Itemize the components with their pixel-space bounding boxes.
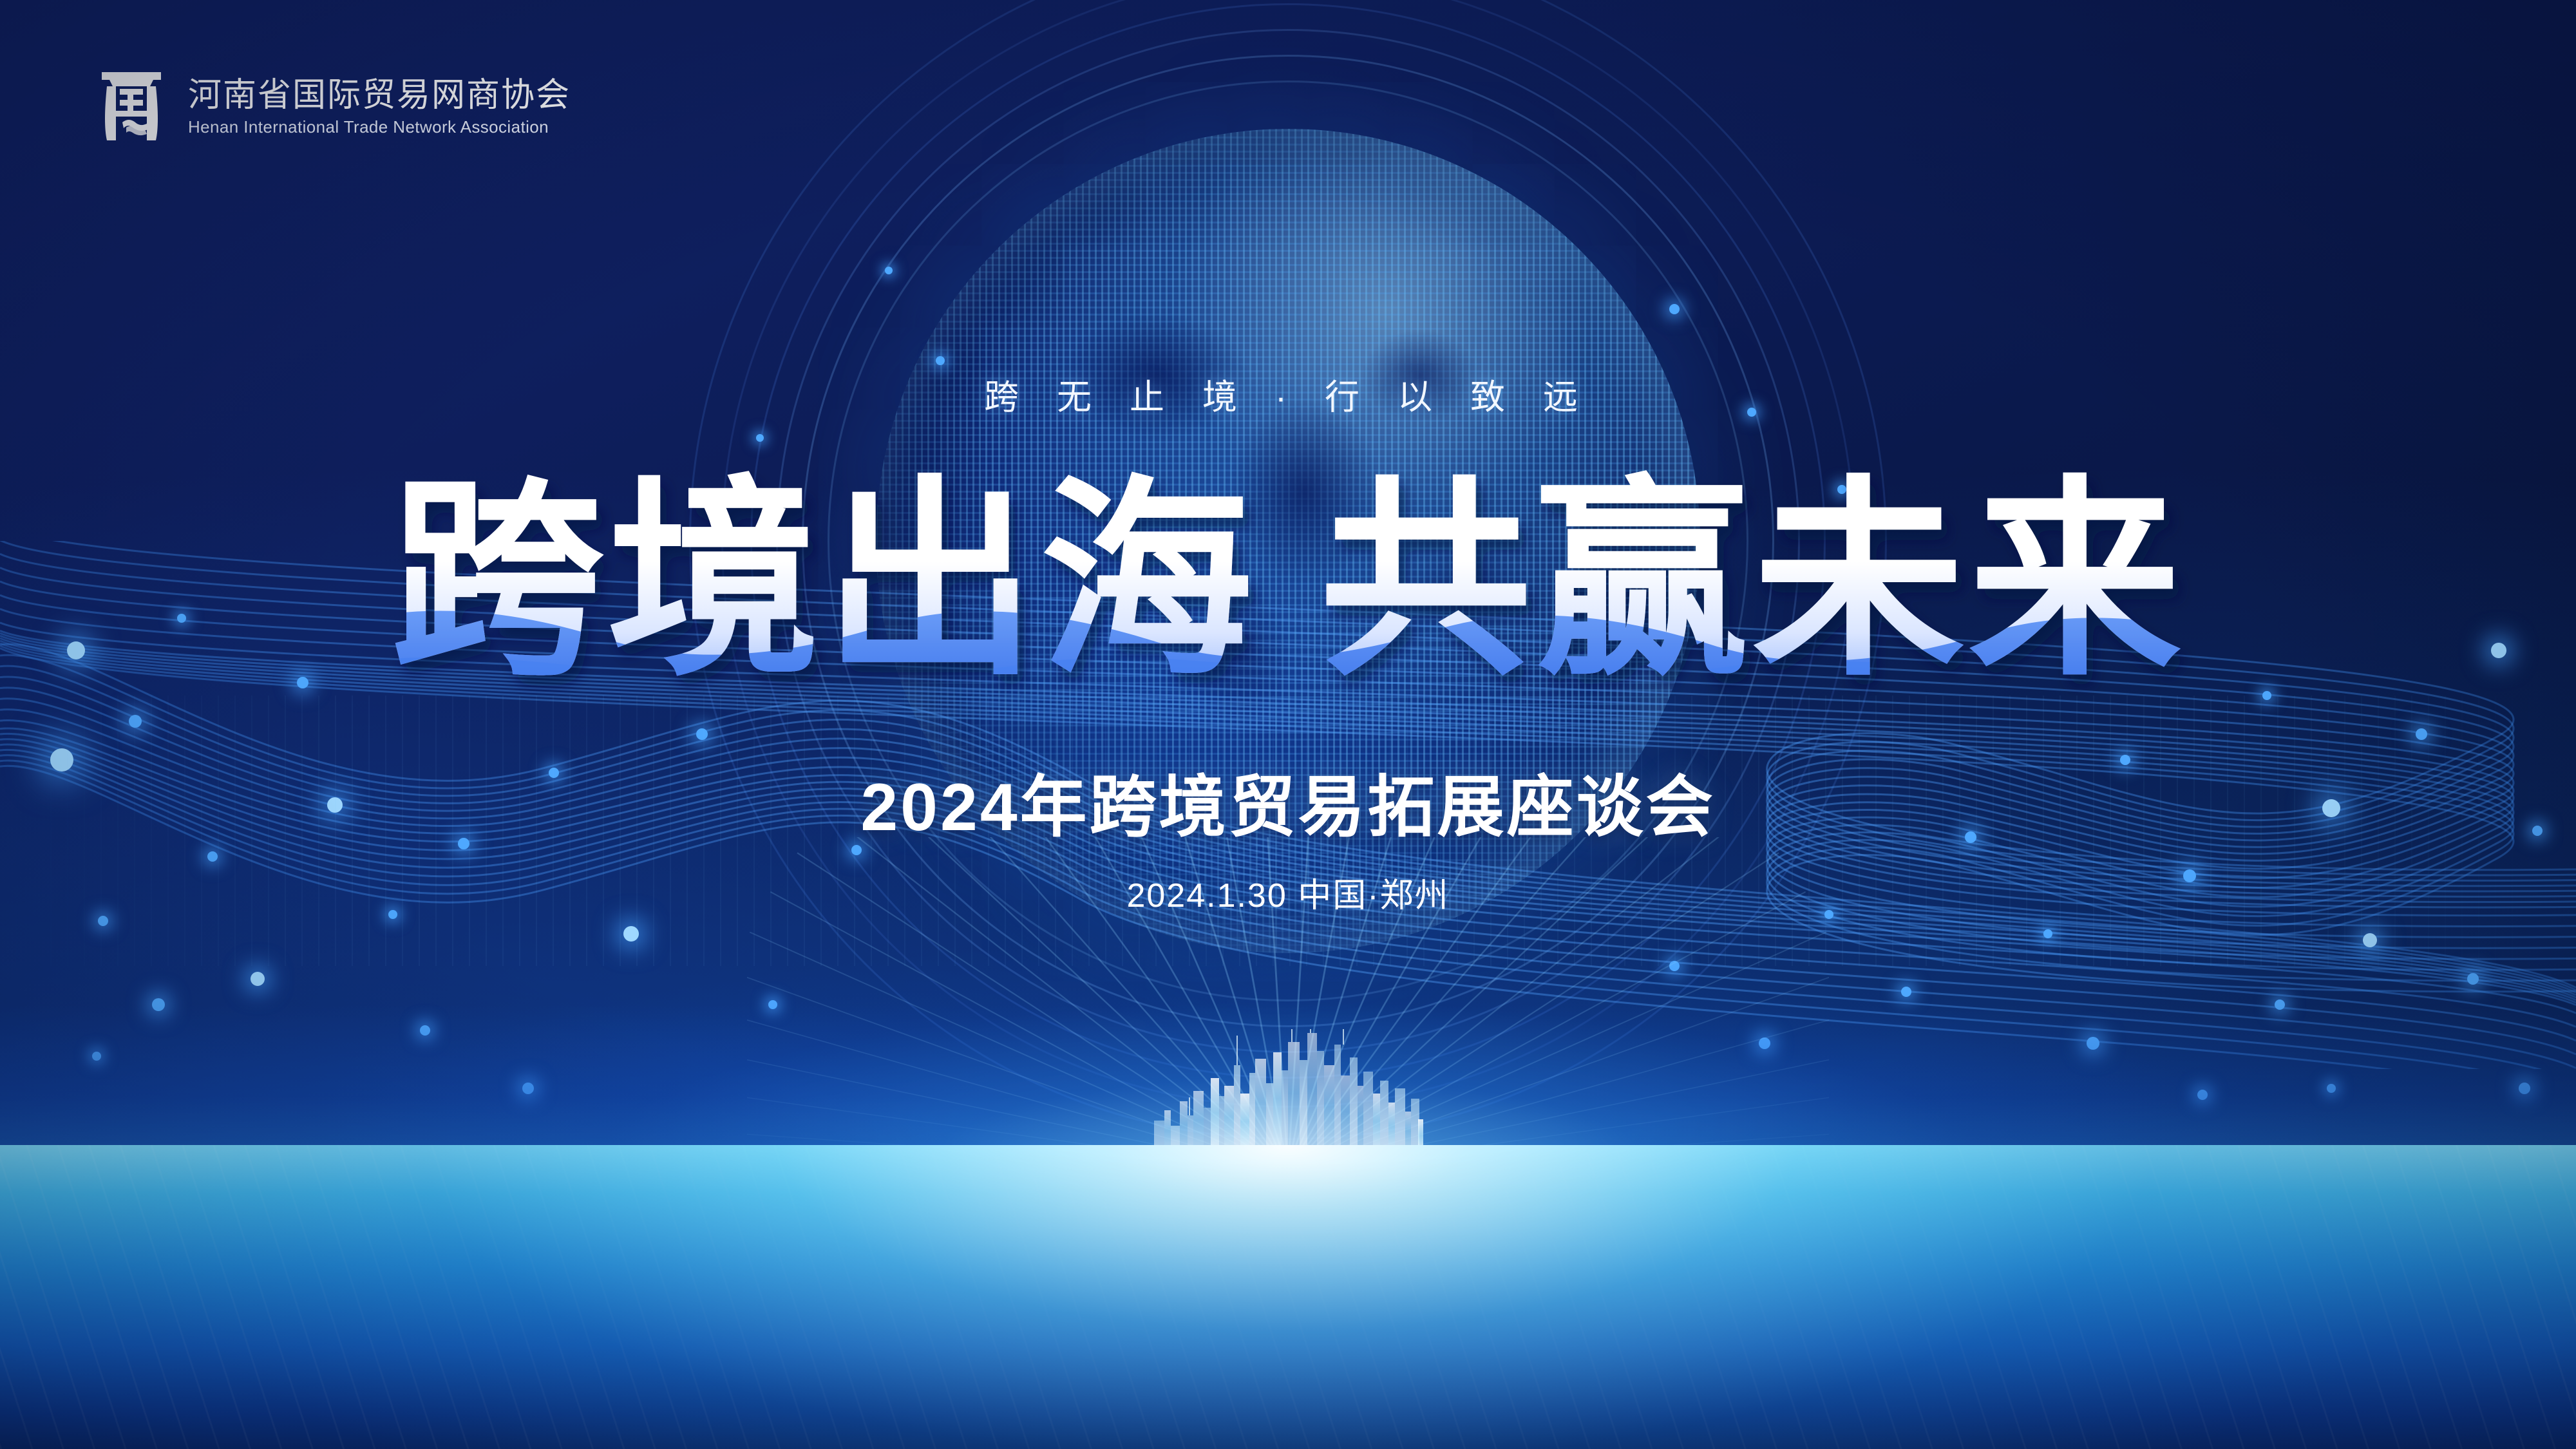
glow-particle xyxy=(2275,999,2285,1010)
glow-particle xyxy=(936,356,945,365)
glow-particle xyxy=(152,998,165,1011)
glow-particle xyxy=(251,972,265,986)
main-headline: 跨境出海 共赢未来 跨境出海 共赢未来 xyxy=(0,442,2576,712)
glow-particle xyxy=(2467,973,2479,985)
vignette-overlay xyxy=(0,0,2576,1449)
ground-light-streaks xyxy=(0,1145,2576,1449)
city-skyline-silhouette xyxy=(1153,1029,1423,1155)
event-tagline: 跨 无 止 境 · 行 以 致 远 xyxy=(0,368,2576,419)
org-name-cn: 河南省国际贸易网商协会 xyxy=(188,79,571,112)
glow-particle xyxy=(2087,1037,2099,1050)
glow-particle xyxy=(207,851,218,862)
glow-particle xyxy=(2197,1090,2208,1100)
glow-particle xyxy=(696,728,708,740)
glow-particle xyxy=(885,267,893,274)
poster-canvas: 河南省国际贸易网商协会 Henan International Trade Ne… xyxy=(0,0,2576,1449)
glow-particle xyxy=(92,1052,101,1061)
glow-particle xyxy=(2043,929,2052,938)
glow-particle xyxy=(1669,304,1680,314)
glow-particle xyxy=(420,1025,430,1036)
henan-trade-seal-emblem-icon xyxy=(97,70,166,144)
glow-particle xyxy=(1759,1037,1770,1049)
glow-particle xyxy=(522,1083,534,1094)
glow-particle xyxy=(1901,987,1911,997)
glow-particle xyxy=(2416,728,2427,740)
glow-particle xyxy=(623,926,639,942)
glow-particle xyxy=(756,434,764,442)
glow-particle xyxy=(768,1000,777,1009)
horizon-sky-glow xyxy=(0,889,2576,1159)
glow-particle xyxy=(98,916,108,926)
glowing-horizon-ground xyxy=(0,1145,2576,1449)
glow-particle xyxy=(1669,961,1680,971)
event-subtitle: 2024年跨境贸易拓展座谈会 xyxy=(0,752,2576,849)
glow-particle xyxy=(2519,1083,2530,1094)
organization-logo[interactable]: 河南省国际贸易网商协会 Henan International Trade Ne… xyxy=(97,70,571,144)
glow-particle xyxy=(129,715,142,728)
event-date-location: 2024.1.30 中国·郑州 xyxy=(0,868,2576,916)
logo-text-block: 河南省国际贸易网商协会 Henan International Trade Ne… xyxy=(188,79,571,135)
glow-particle xyxy=(2327,1084,2336,1093)
org-name-en: Henan International Trade Network Associ… xyxy=(188,118,571,135)
glow-particles xyxy=(0,0,2576,1449)
glow-particle xyxy=(2363,933,2377,947)
lower-glow-band xyxy=(0,1005,2576,1172)
headline-artwork: 跨境出海 共赢未来 跨境出海 共赢未来 xyxy=(303,442,2273,712)
